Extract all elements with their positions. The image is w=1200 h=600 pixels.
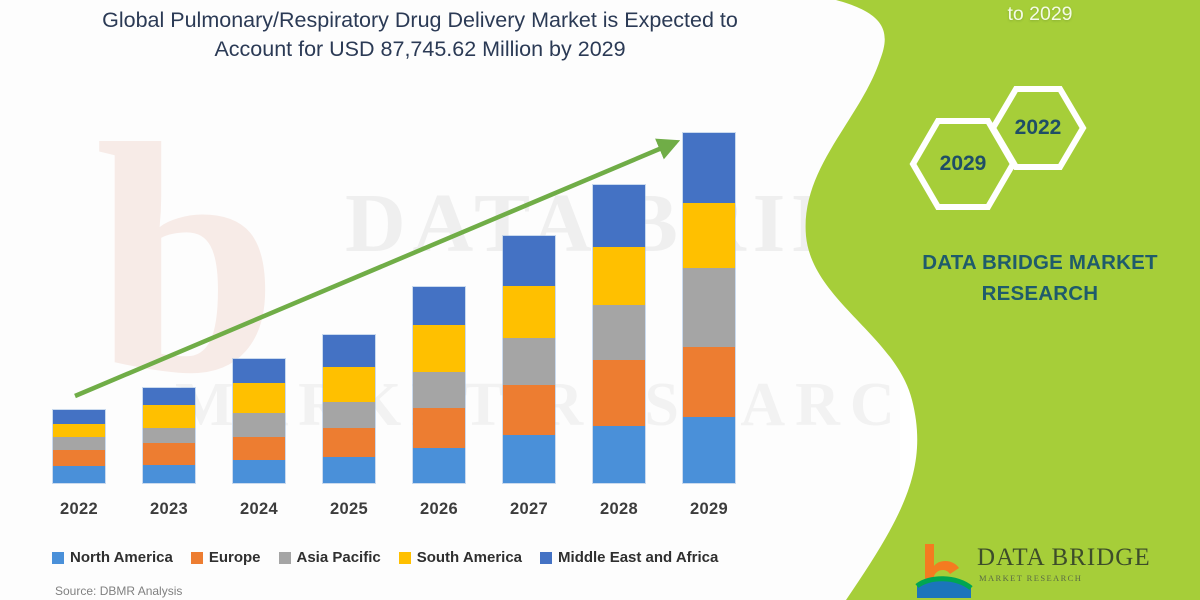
chart-panel: b DATA BRIDGE MARKET RESEARCH Global Pul… bbox=[0, 0, 900, 600]
bar-segment bbox=[593, 426, 645, 483]
bar-segment bbox=[683, 133, 735, 203]
logo-tagline: MARKET RESEARCH bbox=[979, 573, 1082, 583]
bar-segment bbox=[53, 450, 105, 466]
hexagon-badge-2022: 2022 bbox=[988, 84, 1088, 172]
bar-segment bbox=[683, 417, 735, 483]
company-logo: DATA BRIDGE MARKET RESEARCH bbox=[915, 540, 1195, 600]
bar-segment bbox=[413, 287, 465, 325]
legend-swatch-icon bbox=[279, 552, 291, 564]
x-axis-label: 2023 bbox=[124, 500, 214, 519]
legend-swatch-icon bbox=[52, 552, 64, 564]
brand-line-1: DATA BRIDGE MARKET bbox=[880, 248, 1200, 279]
bar-group bbox=[413, 287, 465, 483]
bar-group bbox=[503, 236, 555, 483]
bar-segment bbox=[53, 424, 105, 437]
legend-label: Asia Pacific bbox=[297, 549, 381, 566]
legend-label: Europe bbox=[209, 549, 261, 566]
bar-group bbox=[143, 388, 195, 483]
bar-segment bbox=[143, 465, 195, 483]
hexagon-badge-2022-label: 2022 bbox=[1015, 116, 1062, 140]
bar-group bbox=[53, 410, 105, 483]
x-axis-label: 2022 bbox=[34, 500, 124, 519]
plot-area: 20222023202420252026202720282029 bbox=[0, 0, 900, 600]
x-axis-label: 2027 bbox=[484, 500, 574, 519]
x-axis-label: 2025 bbox=[304, 500, 394, 519]
bar-segment bbox=[233, 359, 285, 383]
bar-segment bbox=[503, 338, 555, 385]
legend-swatch-icon bbox=[399, 552, 411, 564]
legend-swatch-icon bbox=[540, 552, 552, 564]
legend-item[interactable]: South America bbox=[399, 549, 522, 566]
stacked-bar bbox=[683, 133, 735, 483]
x-axis-label: 2026 bbox=[394, 500, 484, 519]
bar-segment bbox=[323, 402, 375, 428]
bar-segment bbox=[593, 247, 645, 305]
brand-panel-content: Delivery Market, By Regions, 2022 to 202… bbox=[880, 0, 1200, 600]
legend-item[interactable]: North America bbox=[52, 549, 173, 566]
bar-group bbox=[233, 359, 285, 483]
bar-segment bbox=[593, 360, 645, 426]
legend-swatch-icon bbox=[191, 552, 203, 564]
legend-label: North America bbox=[70, 549, 173, 566]
bar-segment bbox=[323, 457, 375, 483]
bar-group bbox=[593, 185, 645, 483]
legend-label: Middle East and Africa bbox=[558, 549, 718, 566]
stacked-bar bbox=[593, 185, 645, 483]
bar-segment bbox=[413, 372, 465, 408]
stacked-bar bbox=[53, 410, 105, 483]
bar-segment bbox=[413, 408, 465, 448]
bar-segment bbox=[53, 466, 105, 483]
legend-item[interactable]: Asia Pacific bbox=[279, 549, 381, 566]
bar-segment bbox=[53, 410, 105, 424]
x-axis-label: 2029 bbox=[664, 500, 754, 519]
bar-group bbox=[683, 133, 735, 483]
bar-segment bbox=[413, 448, 465, 483]
bar-segment bbox=[233, 413, 285, 437]
bar-group bbox=[323, 335, 375, 483]
x-axis-labels: 20222023202420252026202720282029 bbox=[0, 500, 800, 522]
panel-title: Delivery Market, By Regions, 2022 to 202… bbox=[880, 0, 1200, 29]
stacked-bar bbox=[143, 388, 195, 483]
bar-segment bbox=[593, 305, 645, 360]
chart-legend: North AmericaEuropeAsia PacificSouth Ame… bbox=[52, 549, 792, 566]
bar-segment bbox=[323, 367, 375, 402]
x-axis-label: 2024 bbox=[214, 500, 304, 519]
bar-segment bbox=[323, 335, 375, 367]
bar-segment bbox=[143, 405, 195, 428]
stacked-bar bbox=[233, 359, 285, 483]
bar-segment bbox=[503, 286, 555, 338]
infographic-root: b DATA BRIDGE MARKET RESEARCH Global Pul… bbox=[0, 0, 1200, 600]
bar-segment bbox=[233, 437, 285, 460]
bridge-logo-icon bbox=[915, 540, 975, 598]
bar-segment bbox=[233, 460, 285, 483]
bar-segment bbox=[593, 185, 645, 247]
logo-text: DATA BRIDGE bbox=[977, 544, 1151, 572]
bar-segment bbox=[323, 428, 375, 457]
brand-line-2: RESEARCH bbox=[880, 279, 1200, 310]
bar-segment bbox=[503, 435, 555, 483]
bar-segment bbox=[413, 325, 465, 372]
bar-segment bbox=[233, 383, 285, 413]
bar-segment bbox=[683, 347, 735, 417]
bar-segment bbox=[143, 428, 195, 443]
bar-segment bbox=[143, 443, 195, 465]
legend-item[interactable]: Europe bbox=[191, 549, 261, 566]
stacked-bar bbox=[503, 236, 555, 483]
legend-label: South America bbox=[417, 549, 522, 566]
bar-segment bbox=[143, 388, 195, 405]
legend-item[interactable]: Middle East and Africa bbox=[540, 549, 718, 566]
stacked-bar bbox=[413, 287, 465, 483]
bar-segment bbox=[683, 203, 735, 268]
brand-name: DATA BRIDGE MARKET RESEARCH bbox=[880, 248, 1200, 310]
bar-segment bbox=[683, 268, 735, 347]
stacked-bar bbox=[323, 335, 375, 483]
bar-segment bbox=[503, 385, 555, 435]
chart-footnote: Source: DBMR Analysis bbox=[55, 584, 182, 598]
bar-segment bbox=[53, 437, 105, 450]
hexagon-badge-2029-label: 2029 bbox=[940, 152, 987, 176]
bar-segment bbox=[503, 236, 555, 286]
x-axis-label: 2028 bbox=[574, 500, 664, 519]
